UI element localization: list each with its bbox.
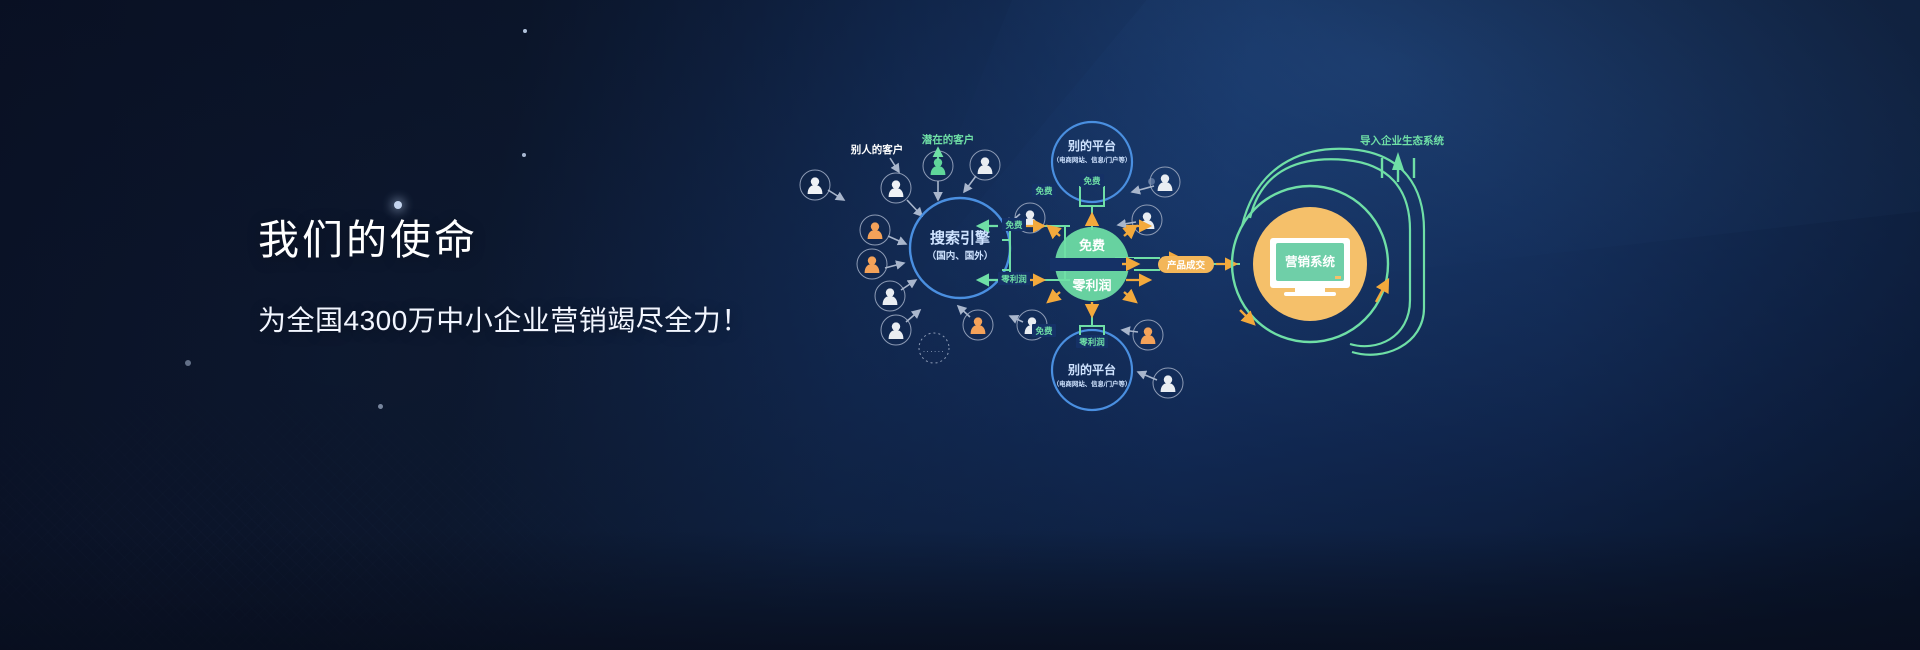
sparkle-dot	[522, 153, 526, 157]
badge-product-deal: 产品成交	[1158, 256, 1214, 273]
hero-copy: 我们的使命 为全国4300万中小企业营销竭尽全力！	[258, 218, 750, 339]
flow-label-free-upper: 免费	[1005, 220, 1023, 230]
label-potential-customers: 潜在的客户	[922, 133, 975, 146]
sparkle-dot	[523, 29, 527, 33]
node-core-bottom-label: 零利润	[1071, 278, 1111, 293]
node-platform-bottom-title: 别的平台	[1067, 362, 1116, 377]
flow-label-free-bottom-right: 免费	[1035, 326, 1053, 336]
node-core: 免费 零利润	[1050, 227, 1134, 301]
node-platform-top-title: 别的平台	[1067, 138, 1116, 153]
sparkle-dot	[185, 360, 191, 366]
node-marketing-system: 营销系统	[1232, 186, 1388, 342]
hero-banner: 我们的使命 为全国4300万中小企业营销竭尽全力！	[0, 0, 1920, 650]
node-platform-top-subtitle: （电商网站、信息/门户等）	[1053, 155, 1131, 164]
marketing-ecosystem-diagram: ......	[910, 130, 1530, 420]
flow-label-zero-profit-search: 零利润	[1000, 274, 1027, 284]
node-platform-bottom-subtitle: （电商网站、信息/门户等）	[1053, 379, 1131, 388]
flow-label-free-search-lower: 免费	[1035, 186, 1053, 196]
sparkle-dot	[394, 201, 402, 209]
node-marketing-system-title: 营销系统	[1285, 254, 1336, 269]
ellipsis-label: ......	[923, 345, 945, 354]
badge-product-deal-label: 产品成交	[1167, 260, 1206, 272]
flow-label-free-top-platform: 免费	[1083, 176, 1101, 186]
node-search-engine-ring	[910, 198, 1010, 298]
page-subtitle: 为全国4300万中小企业营销竭尽全力！	[258, 299, 750, 339]
import-arrow-head	[1392, 152, 1404, 182]
label-import-ecosystem: 导入企业生态系统	[1360, 134, 1444, 147]
node-search-engine-subtitle: （国内、国外）	[927, 250, 994, 262]
label-others-customers: 别人的客户	[850, 143, 904, 156]
sparkle-dot	[378, 404, 383, 409]
background-bottom-fade	[0, 530, 1920, 650]
node-search-engine-title: 搜索引擎	[930, 229, 990, 247]
node-core-top-label: 免费	[1079, 238, 1105, 253]
flow-label-zero-profit-bottom: 零利润	[1078, 337, 1105, 347]
page-title: 我们的使命	[258, 218, 750, 263]
